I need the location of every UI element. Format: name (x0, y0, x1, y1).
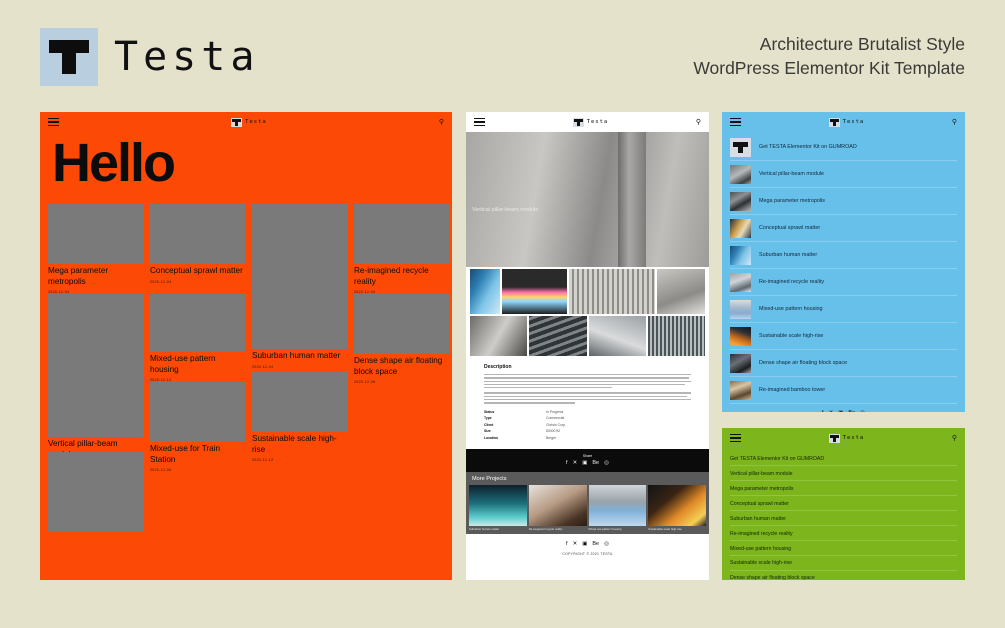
home-brand-label: Testa (245, 119, 267, 125)
list-item[interactable]: Mixed-use pattern housing (589, 485, 647, 531)
tagline-line-1: Architecture Brutalist Style (693, 33, 965, 57)
green-item-list: Get TESTA Elementor Kit on GUMROAD Verti… (722, 448, 965, 580)
project-title: Mixed-use for Train Station (150, 444, 246, 465)
testa-t-logo-icon (829, 118, 840, 127)
testa-t-logo-icon (40, 28, 98, 86)
instagram-icon[interactable]: ▣ (838, 411, 843, 412)
list-item[interactable]: Conceptual sprawl matter (730, 496, 957, 511)
copyright: COPYRIGHT © 2021 TESTA (466, 552, 709, 556)
testa-t-logo-icon (231, 118, 242, 127)
brand-header: Testa Architecture Brutalist Style WordP… (0, 0, 1005, 104)
spec-key: Type (484, 416, 546, 420)
mockup-blue-list: Testa ⚲ Get TESTA Elementor Kit on GUMRO… (722, 112, 965, 412)
table-row: Status In Progress (484, 410, 691, 414)
list-item[interactable]: Dense shape air floating block space (730, 571, 957, 580)
single-brand[interactable]: Testa (573, 118, 609, 127)
blue-brand-label: Testa (843, 119, 865, 125)
project-title: Sustainable scale high-rise (648, 528, 706, 531)
spec-value: Commercial (546, 416, 564, 420)
green-topbar: Testa ⚲ (722, 428, 965, 448)
list-item[interactable]: Vertical pillar-beam module (730, 161, 957, 188)
tagline-line-2: WordPress Elementor Kit Template (693, 57, 965, 81)
project-title: Dense shape air floating block space (354, 356, 450, 377)
project-date: 2020-12-04 (150, 280, 246, 284)
list-item[interactable]: Re-imagined recycle reality 2020-12-04 (354, 204, 450, 294)
list-item[interactable]: Mixed-use pattern housing 2020-12-12 (150, 294, 246, 382)
project-thumbnail (252, 372, 348, 432)
table-row: Type Commercial (484, 416, 691, 420)
list-item[interactable]: Mixed-use pattern housing (730, 296, 957, 323)
spec-key: Client (484, 423, 546, 427)
x-twitter-icon[interactable]: ✕ (829, 411, 834, 412)
single-topbar: Testa ⚲ (466, 112, 709, 132)
page-title: Hello (52, 136, 452, 190)
green-brand[interactable]: Testa (829, 434, 865, 443)
list-item[interactable]: Mega parameter metropolis (730, 188, 957, 215)
facebook-icon[interactable]: f (566, 461, 568, 467)
more-projects-grid: Suburban human matter Re-imagined recycl… (466, 485, 709, 534)
project-thumbnail (730, 354, 751, 373)
table-row: Size 80000 ft2 (484, 429, 691, 433)
list-item[interactable]: Vertical pillar-beam module (730, 466, 957, 481)
mockup-single-project: Testa ⚲ Vertical pillar-beam module Desc… (466, 112, 709, 580)
description-section: Description Status In Progress Type Comm… (466, 356, 709, 449)
facebook-icon[interactable]: f (822, 411, 824, 412)
project-thumbnail (529, 485, 587, 526)
mockup-home-orange: Testa ⚲ Hello Mega parameter metropolis … (40, 112, 452, 580)
dribbble-icon[interactable]: ◎ (604, 542, 609, 548)
project-thumbnail (48, 452, 144, 532)
table-row: Client Christo Corp. (484, 423, 691, 427)
behance-icon[interactable]: Be (592, 461, 599, 467)
hero-pillar (618, 132, 646, 267)
gallery-image[interactable] (657, 269, 705, 314)
project-title: Conceptual sprawl matter (150, 266, 246, 277)
search-icon[interactable]: ⚲ (952, 119, 957, 126)
project-thumbnail (150, 204, 246, 264)
project-thumbnail (730, 327, 751, 346)
project-date: 2020-12-12 (252, 458, 348, 462)
project-thumbnail (48, 294, 144, 437)
list-item[interactable]: Get TESTA Elementor Kit on GUMROAD (730, 451, 957, 466)
instagram-icon[interactable]: ▣ (582, 461, 587, 467)
single-footer: f ✕ ▣ Be ◎ COPYRIGHT © 2021 TESTA (466, 534, 709, 564)
spec-value: In Progress (546, 410, 563, 414)
behance-icon[interactable]: Be (848, 411, 855, 412)
search-icon[interactable]: ⚲ (696, 119, 701, 126)
project-thumbnail (730, 273, 751, 292)
hamburger-menu-icon[interactable] (48, 118, 59, 126)
spec-table: Status In Progress Type Commercial Clien… (484, 410, 691, 440)
project-thumbnail (589, 485, 647, 526)
hero-image: Vertical pillar-beam module (466, 132, 709, 267)
project-title: Suburban human matter (252, 351, 348, 362)
list-item[interactable]: Re-imagined recycle reality (730, 526, 957, 541)
description-heading: Description (484, 364, 691, 370)
hamburger-menu-icon[interactable] (474, 118, 485, 126)
hero-caption: Vertical pillar-beam module (472, 207, 538, 213)
spec-value: 80000 ft2 (546, 429, 560, 433)
social-links: f ✕ ▣ Be ◎ (730, 411, 957, 412)
description-body (484, 374, 691, 404)
testa-t-logo-icon (573, 118, 584, 127)
list-item[interactable]: Conceptual sprawl matter 2020-12-04 (150, 204, 246, 284)
project-thumbnail (730, 246, 751, 265)
project-thumbnail (730, 165, 751, 184)
x-twitter-icon[interactable]: ✕ (573, 461, 578, 467)
brand-logo-group: Testa (40, 28, 259, 86)
list-item-label: Get TESTA Elementor Kit on GUMROAD (759, 144, 857, 150)
spec-key: Status (484, 410, 546, 414)
poster-canvas: Testa Architecture Brutalist Style WordP… (0, 0, 1005, 628)
list-item[interactable]: Suburban human matter (730, 511, 957, 526)
green-brand-label: Testa (843, 435, 865, 441)
spec-value: Berger (546, 436, 556, 440)
home-brand[interactable]: Testa (231, 118, 267, 127)
gallery-image[interactable] (502, 269, 567, 314)
project-title: Mixed-use pattern housing (150, 354, 246, 375)
home-topbar: Testa ⚲ (40, 112, 452, 132)
list-item[interactable]: Mega parameter metropolis (730, 481, 957, 496)
list-item-label: Sustainable scale high-rise (759, 333, 823, 339)
list-item[interactable]: Re-imagined recycle reality (730, 269, 957, 296)
list-item[interactable]: Suburban human matter 2020-12-04 (252, 204, 348, 369)
facebook-icon[interactable]: f (566, 542, 568, 548)
x-twitter-icon[interactable]: ✕ (573, 542, 578, 548)
list-item[interactable]: Sustainable scale high-rise (648, 485, 706, 531)
list-item-label: Suburban human matter (759, 252, 817, 258)
blue-footer: f ✕ ▣ Be ◎ COPYRIGHT © 2025 TESTA (730, 411, 957, 412)
list-item-label: Conceptual sprawl matter (759, 225, 820, 231)
project-title: Re-imagined recycle reality (529, 528, 587, 531)
project-thumbnail (252, 204, 348, 349)
project-title: Sustainable scale high-rise (252, 434, 348, 455)
gallery-image[interactable] (470, 316, 527, 356)
project-date: 2020-12-06 (354, 380, 450, 384)
list-item-label: Re-imagined recycle reality (759, 279, 824, 285)
list-item[interactable]: Suburban human matter (469, 485, 527, 531)
list-item[interactable]: Re-imagined recycle reality (529, 485, 587, 531)
list-item-label: Dense shape air floating block space (759, 360, 847, 366)
list-item[interactable] (48, 452, 144, 532)
more-projects-section: More Projects Suburban human matter Re-i… (466, 472, 709, 534)
hamburger-menu-icon[interactable] (730, 118, 741, 126)
project-thumbnail (469, 485, 527, 526)
project-title: Mega parameter metropolis (48, 266, 144, 287)
list-item-label: Re-imagined bamboo tower (759, 387, 825, 393)
share-label: Share (466, 454, 709, 458)
spec-key: Size (484, 429, 546, 433)
list-item[interactable]: Mixed-use for Train Station 2020-12-06 (150, 382, 246, 472)
gallery-image[interactable] (569, 269, 655, 314)
spec-key: Location (484, 436, 546, 440)
list-item[interactable]: Sustainable scale high-rise 2020-12-12 (252, 372, 348, 462)
testa-t-logo-icon (829, 434, 840, 443)
project-thumbnail (150, 294, 246, 352)
project-grid: Mega parameter metropolis 2020-12-04 Con… (48, 204, 444, 534)
project-thumbnail (730, 192, 751, 211)
list-item[interactable]: Sustainable scale high-rise (730, 556, 957, 571)
search-icon[interactable]: ⚲ (952, 435, 957, 442)
search-icon[interactable]: ⚲ (439, 119, 444, 126)
list-item-label: Vertical pillar-beam module (759, 171, 824, 177)
spec-value: Christo Corp. (546, 423, 566, 427)
project-thumbnail (48, 204, 144, 264)
dribbble-icon[interactable]: ◎ (604, 461, 609, 467)
list-item[interactable]: Mixed-use pattern housing (730, 541, 957, 556)
instagram-icon[interactable]: ▣ (582, 542, 587, 548)
dribbble-icon[interactable]: ◎ (860, 411, 865, 412)
project-thumbnail (354, 204, 450, 264)
list-item[interactable]: Vertical pillar-beam module 2020-12-12 (48, 294, 144, 467)
gallery-image[interactable] (589, 316, 646, 356)
social-links: f ✕ ▣ Be ◎ (466, 461, 709, 467)
mockup-green-list: Testa ⚲ Get TESTA Elementor Kit on GUMRO… (722, 428, 965, 580)
list-item[interactable]: Mega parameter metropolis 2020-12-04 (48, 204, 144, 294)
table-row: Location Berger (484, 436, 691, 440)
list-item[interactable]: Sustainable scale high-rise (730, 323, 957, 350)
brand-name: Testa (114, 34, 259, 80)
gallery-image[interactable] (648, 316, 705, 356)
list-item[interactable]: Dense shape air floating block space (730, 350, 957, 377)
single-brand-label: Testa (587, 119, 609, 125)
share-section: Share f ✕ ▣ Be ◎ (466, 449, 709, 473)
blue-topbar: Testa ⚲ (722, 112, 965, 132)
more-projects-heading: More Projects (466, 472, 709, 485)
project-date: 2020-12-06 (150, 468, 246, 472)
list-item-label: Mixed-use pattern housing (759, 306, 823, 312)
project-thumbnail (730, 219, 751, 238)
list-item[interactable]: Get TESTA Elementor Kit on GUMROAD (730, 134, 957, 161)
project-title: Re-imagined recycle reality (354, 266, 450, 287)
project-thumbnail (648, 485, 706, 526)
project-date: 2020-12-04 (252, 365, 348, 369)
list-item[interactable]: Suburban human matter (730, 242, 957, 269)
project-thumbnail (730, 300, 751, 319)
list-item-label: Mega parameter metropolis (759, 198, 825, 204)
list-item[interactable]: Dense shape air floating block space 202… (354, 294, 450, 384)
list-item[interactable]: Re-imagined bamboo tower (730, 377, 957, 404)
project-title: Mixed-use pattern housing (589, 528, 647, 531)
hamburger-menu-icon[interactable] (730, 434, 741, 442)
social-links: f ✕ ▣ Be ◎ (466, 542, 709, 548)
project-thumbnail (150, 382, 246, 442)
project-title: Suburban human matter (469, 528, 527, 531)
testa-t-logo-icon (730, 138, 751, 157)
gallery-image[interactable] (529, 316, 586, 356)
gallery-strip-1 (466, 267, 709, 314)
gallery-image[interactable] (470, 269, 500, 314)
behance-icon[interactable]: Be (592, 542, 599, 548)
tagline: Architecture Brutalist Style WordPress E… (693, 33, 965, 80)
gallery-strip-2 (466, 314, 709, 356)
list-item[interactable]: Conceptual sprawl matter (730, 215, 957, 242)
blue-item-list: Get TESTA Elementor Kit on GUMROAD Verti… (722, 132, 965, 412)
project-thumbnail (730, 381, 751, 400)
blue-brand[interactable]: Testa (829, 118, 865, 127)
project-thumbnail (354, 294, 450, 354)
